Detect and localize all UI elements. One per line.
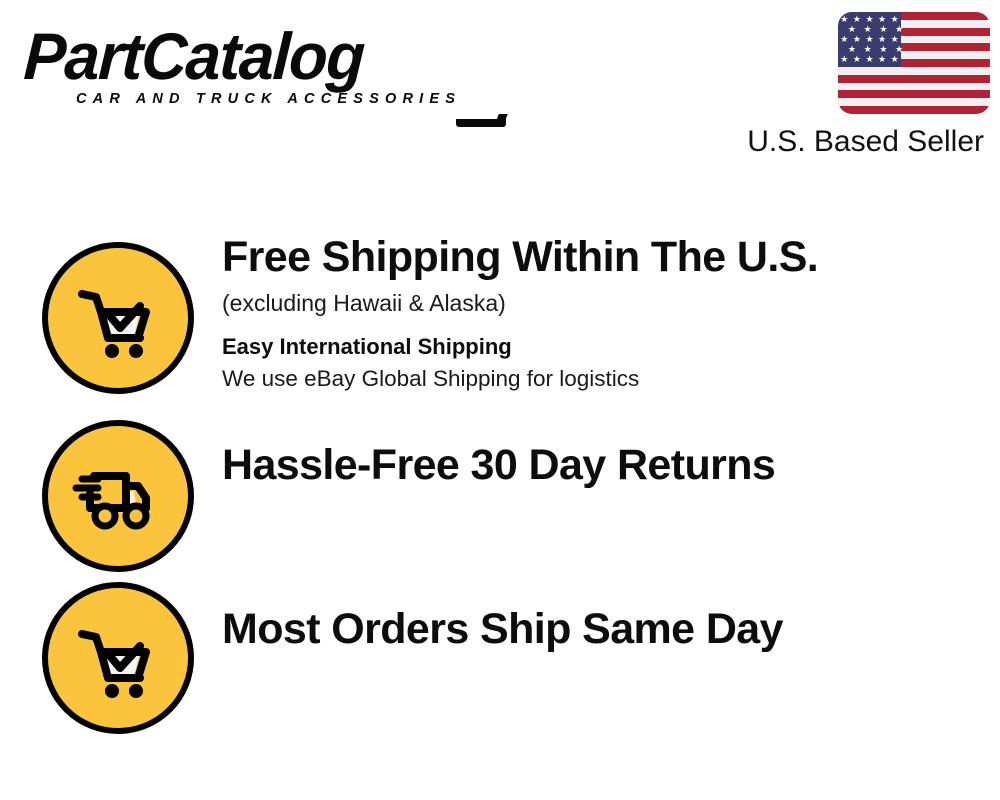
flag-star-row: ★★★★ xyxy=(838,45,913,54)
page-header: PartCatalog CAR AND TRUCK ACCESSORIES xyxy=(0,0,1000,175)
logo-tagline: CAR AND TRUCK ACCESSORIES xyxy=(76,91,494,107)
flag-stripe xyxy=(838,106,990,114)
seller-badge-label: U.S. Based Seller xyxy=(747,125,984,159)
feature-title: Free Shipping Within The U.S. xyxy=(222,232,962,282)
feature-row: Hassle-Free 30 Day Returns xyxy=(0,412,1000,582)
feature-list: Free Shipping Within The U.S. (excluding… xyxy=(0,232,1000,747)
shopping-cart-check-icon xyxy=(42,582,194,734)
flag-stripe xyxy=(838,90,990,98)
us-flag-icon: ★★★★★ ★★★★ ★★★★★ ★★★★ ★★★★★ xyxy=(838,12,990,114)
feature-title: Hassle-Free 30 Day Returns xyxy=(222,440,962,490)
feature-title: Most Orders Ship Same Day xyxy=(222,604,962,654)
feature-subtitle-strong: Easy International Shipping xyxy=(222,332,962,362)
feature-text: Free Shipping Within The U.S. (excluding… xyxy=(222,232,962,394)
feature-row: Most Orders Ship Same Day xyxy=(0,582,1000,747)
flag-star-row: ★★★★ xyxy=(838,25,913,34)
logo-swoosh-icon xyxy=(456,114,506,127)
feature-subtitle-secondary: We use eBay Global Shipping for logistic… xyxy=(222,364,962,394)
flag-star-row: ★★★★★ xyxy=(838,35,901,44)
flag-stripe xyxy=(838,98,990,106)
flag-star-row: ★★★★★ xyxy=(838,15,901,24)
delivery-truck-icon xyxy=(42,420,194,572)
flag-star-row: ★★★★★ xyxy=(838,55,901,64)
feature-row: Free Shipping Within The U.S. (excluding… xyxy=(0,232,1000,412)
flag-stripe xyxy=(838,83,990,91)
logo-wordmark: PartCatalog xyxy=(22,22,477,90)
flag-stripe xyxy=(838,75,990,83)
feature-text: Hassle-Free 30 Day Returns xyxy=(222,440,962,490)
seller-badge: ★★★★★ ★★★★ ★★★★★ ★★★★ ★★★★★ U.S. Based S… xyxy=(747,12,990,159)
feature-text: Most Orders Ship Same Day xyxy=(222,604,962,654)
feature-subtitle: (excluding Hawaii & Alaska) xyxy=(222,288,962,318)
brand-logo[interactable]: PartCatalog CAR AND TRUCK ACCESSORIES xyxy=(24,22,494,107)
shopping-cart-check-icon xyxy=(42,242,194,394)
flag-stripe xyxy=(838,67,990,75)
